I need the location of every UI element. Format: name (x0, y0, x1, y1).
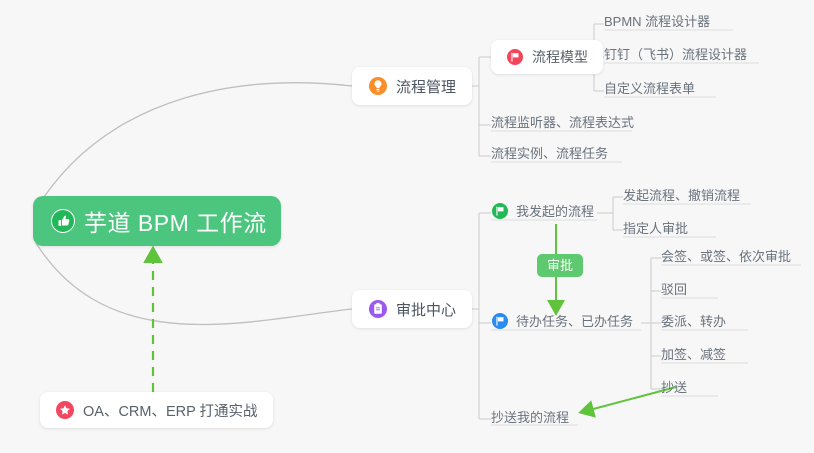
wire-root-to-approval-center (36, 243, 352, 325)
node-label: 我发起的流程 (516, 201, 594, 220)
node-label: 流程模型 (532, 47, 588, 67)
leaf-label: 指定人审批 (623, 218, 688, 237)
node-label: 待办任务、已办任务 (516, 311, 633, 330)
flag-icon (491, 202, 509, 220)
leaf-label: 流程实例、流程任务 (491, 143, 608, 162)
leaf-label: 钉钉（飞书）流程设计器 (604, 44, 747, 63)
leaf-label: 抄送 (661, 377, 687, 396)
leaf-label: BPMN 流程设计器 (604, 11, 710, 30)
branch-label: 流程管理 (396, 76, 456, 97)
leaf-label: 委派、转办 (661, 311, 726, 330)
branch-label: 审批中心 (396, 299, 456, 320)
approval-badge: 审批 (537, 254, 583, 277)
leaf-cc-to-me[interactable]: 抄送我的流程 (491, 407, 569, 431)
flag-icon (491, 312, 509, 330)
thumbs-up-icon (51, 209, 75, 233)
lightbulb-icon (368, 76, 388, 96)
leaf-label: 驳回 (661, 279, 687, 298)
leaf-bpmn-designer[interactable]: BPMN 流程设计器 (604, 11, 710, 35)
leaf-label: 发起流程、撤销流程 (623, 185, 740, 204)
leaf-add-remove-sign[interactable]: 加签、减签 (661, 344, 726, 368)
leaf-label: 流程监听器、流程表达式 (491, 112, 634, 131)
node-process-model[interactable]: 流程模型 (491, 40, 603, 74)
leaf-delegate-transfer[interactable]: 委派、转办 (661, 311, 726, 335)
leaf-process-listener[interactable]: 流程监听器、流程表达式 (491, 112, 634, 136)
wire-root-to-process-management (36, 83, 352, 209)
leaf-label: 会签、或签、依次审批 (661, 246, 791, 265)
star-icon (55, 400, 75, 420)
footnote-node[interactable]: OA、CRM、ERP 打通实战 (40, 392, 273, 428)
node-todo-done-tasks[interactable]: 待办任务、已办任务 (491, 311, 633, 335)
mindmap-canvas: 芋道 BPM 工作流 流程管理 流程模型 BPMN 流程设计器 钉钉（飞书 (0, 0, 814, 453)
footnote-label: OA、CRM、ERP 打通实战 (83, 400, 258, 421)
branch-approval-center[interactable]: 审批中心 (352, 290, 472, 328)
node-my-initiated[interactable]: 我发起的流程 (491, 201, 594, 225)
flag-icon (506, 48, 524, 66)
leaf-label: 自定义流程表单 (604, 78, 695, 97)
leaf-countersign[interactable]: 会签、或签、依次审批 (661, 246, 791, 270)
clipboard-icon (368, 299, 388, 319)
leaf-cc[interactable]: 抄送 (661, 377, 687, 401)
root-label: 芋道 BPM 工作流 (84, 204, 267, 238)
leaf-custom-form[interactable]: 自定义流程表单 (604, 78, 695, 102)
leaf-label: 抄送我的流程 (491, 407, 569, 426)
leaf-label: 加签、减签 (661, 344, 726, 363)
leaf-assignee-approval[interactable]: 指定人审批 (623, 218, 688, 242)
leaf-reject[interactable]: 驳回 (661, 279, 687, 303)
leaf-process-instance[interactable]: 流程实例、流程任务 (491, 143, 608, 167)
leaf-dingtalk-designer[interactable]: 钉钉（飞书）流程设计器 (604, 44, 747, 68)
leaf-start-cancel-process[interactable]: 发起流程、撤销流程 (623, 185, 740, 209)
root-node[interactable]: 芋道 BPM 工作流 (33, 196, 281, 246)
branch-process-management[interactable]: 流程管理 (352, 67, 472, 105)
